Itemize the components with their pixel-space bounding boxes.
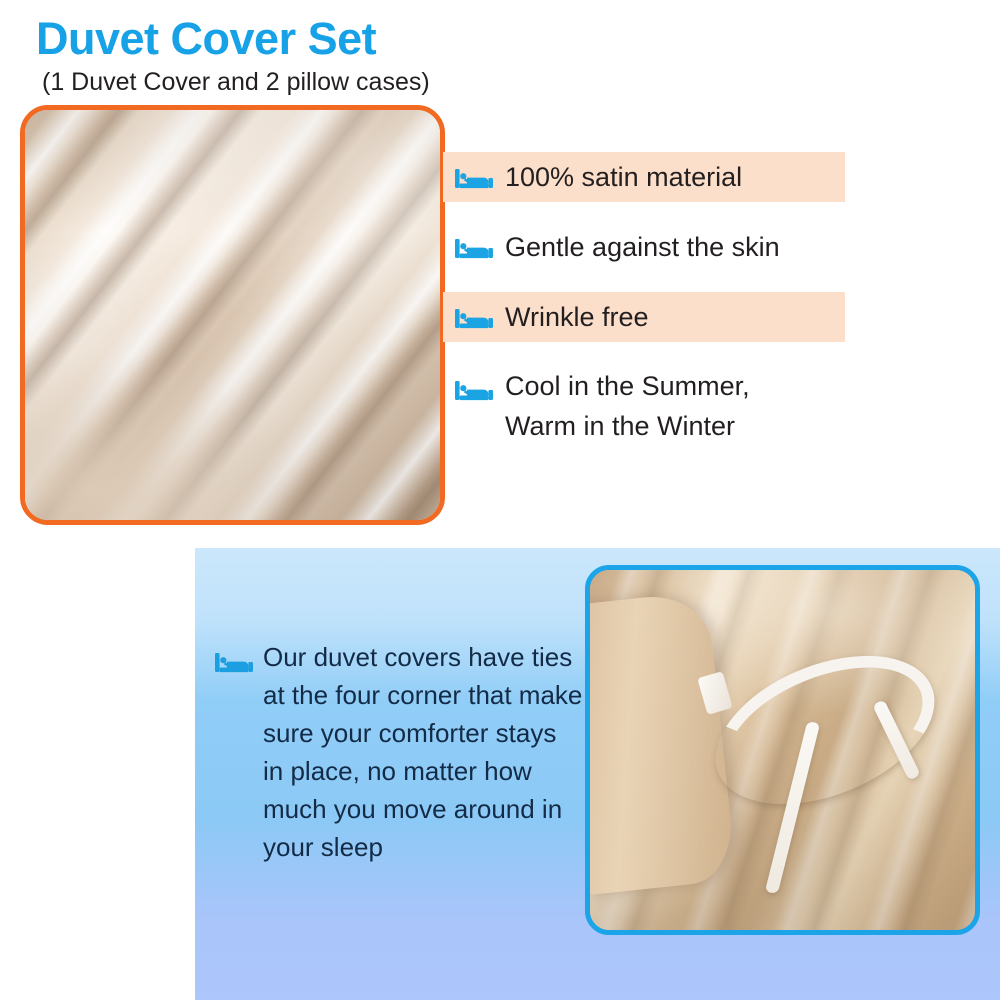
fabric-photo	[20, 105, 445, 525]
feature-label: Wrinkle free	[505, 292, 649, 342]
bed-icon	[455, 378, 493, 402]
feature-list: 100% satin material Gentle against the s…	[443, 152, 963, 440]
bed-icon	[215, 650, 253, 674]
bed-icon	[455, 236, 493, 260]
bed-icon	[455, 166, 493, 190]
infographic-canvas: Duvet Cover Set (1 Duvet Cover and 2 pil…	[0, 0, 1000, 1000]
feature-label: 100% satin material	[505, 152, 742, 202]
feature-label: Cool in the Summer, Warm in the Winter	[505, 362, 750, 446]
feature-label: Gentle against the skin	[505, 222, 780, 272]
tie-photo	[585, 565, 980, 935]
bed-icon	[455, 306, 493, 330]
feature-item-gentle-skin: Gentle against the skin	[443, 222, 963, 272]
page-subtitle: (1 Duvet Cover and 2 pillow cases)	[42, 68, 430, 97]
tie-description-block: Our duvet covers have ties at the four c…	[215, 638, 590, 866]
page-title: Duvet Cover Set	[36, 14, 376, 64]
feature-item-satin-material: 100% satin material	[443, 152, 845, 202]
tie-paragraph: Our duvet covers have ties at the four c…	[263, 638, 583, 866]
satin-fabric-texture	[21, 106, 444, 524]
feature-item-temperature: Cool in the Summer, Warm in the Winter	[443, 362, 963, 440]
feature-item-wrinkle-free: Wrinkle free	[443, 292, 845, 342]
